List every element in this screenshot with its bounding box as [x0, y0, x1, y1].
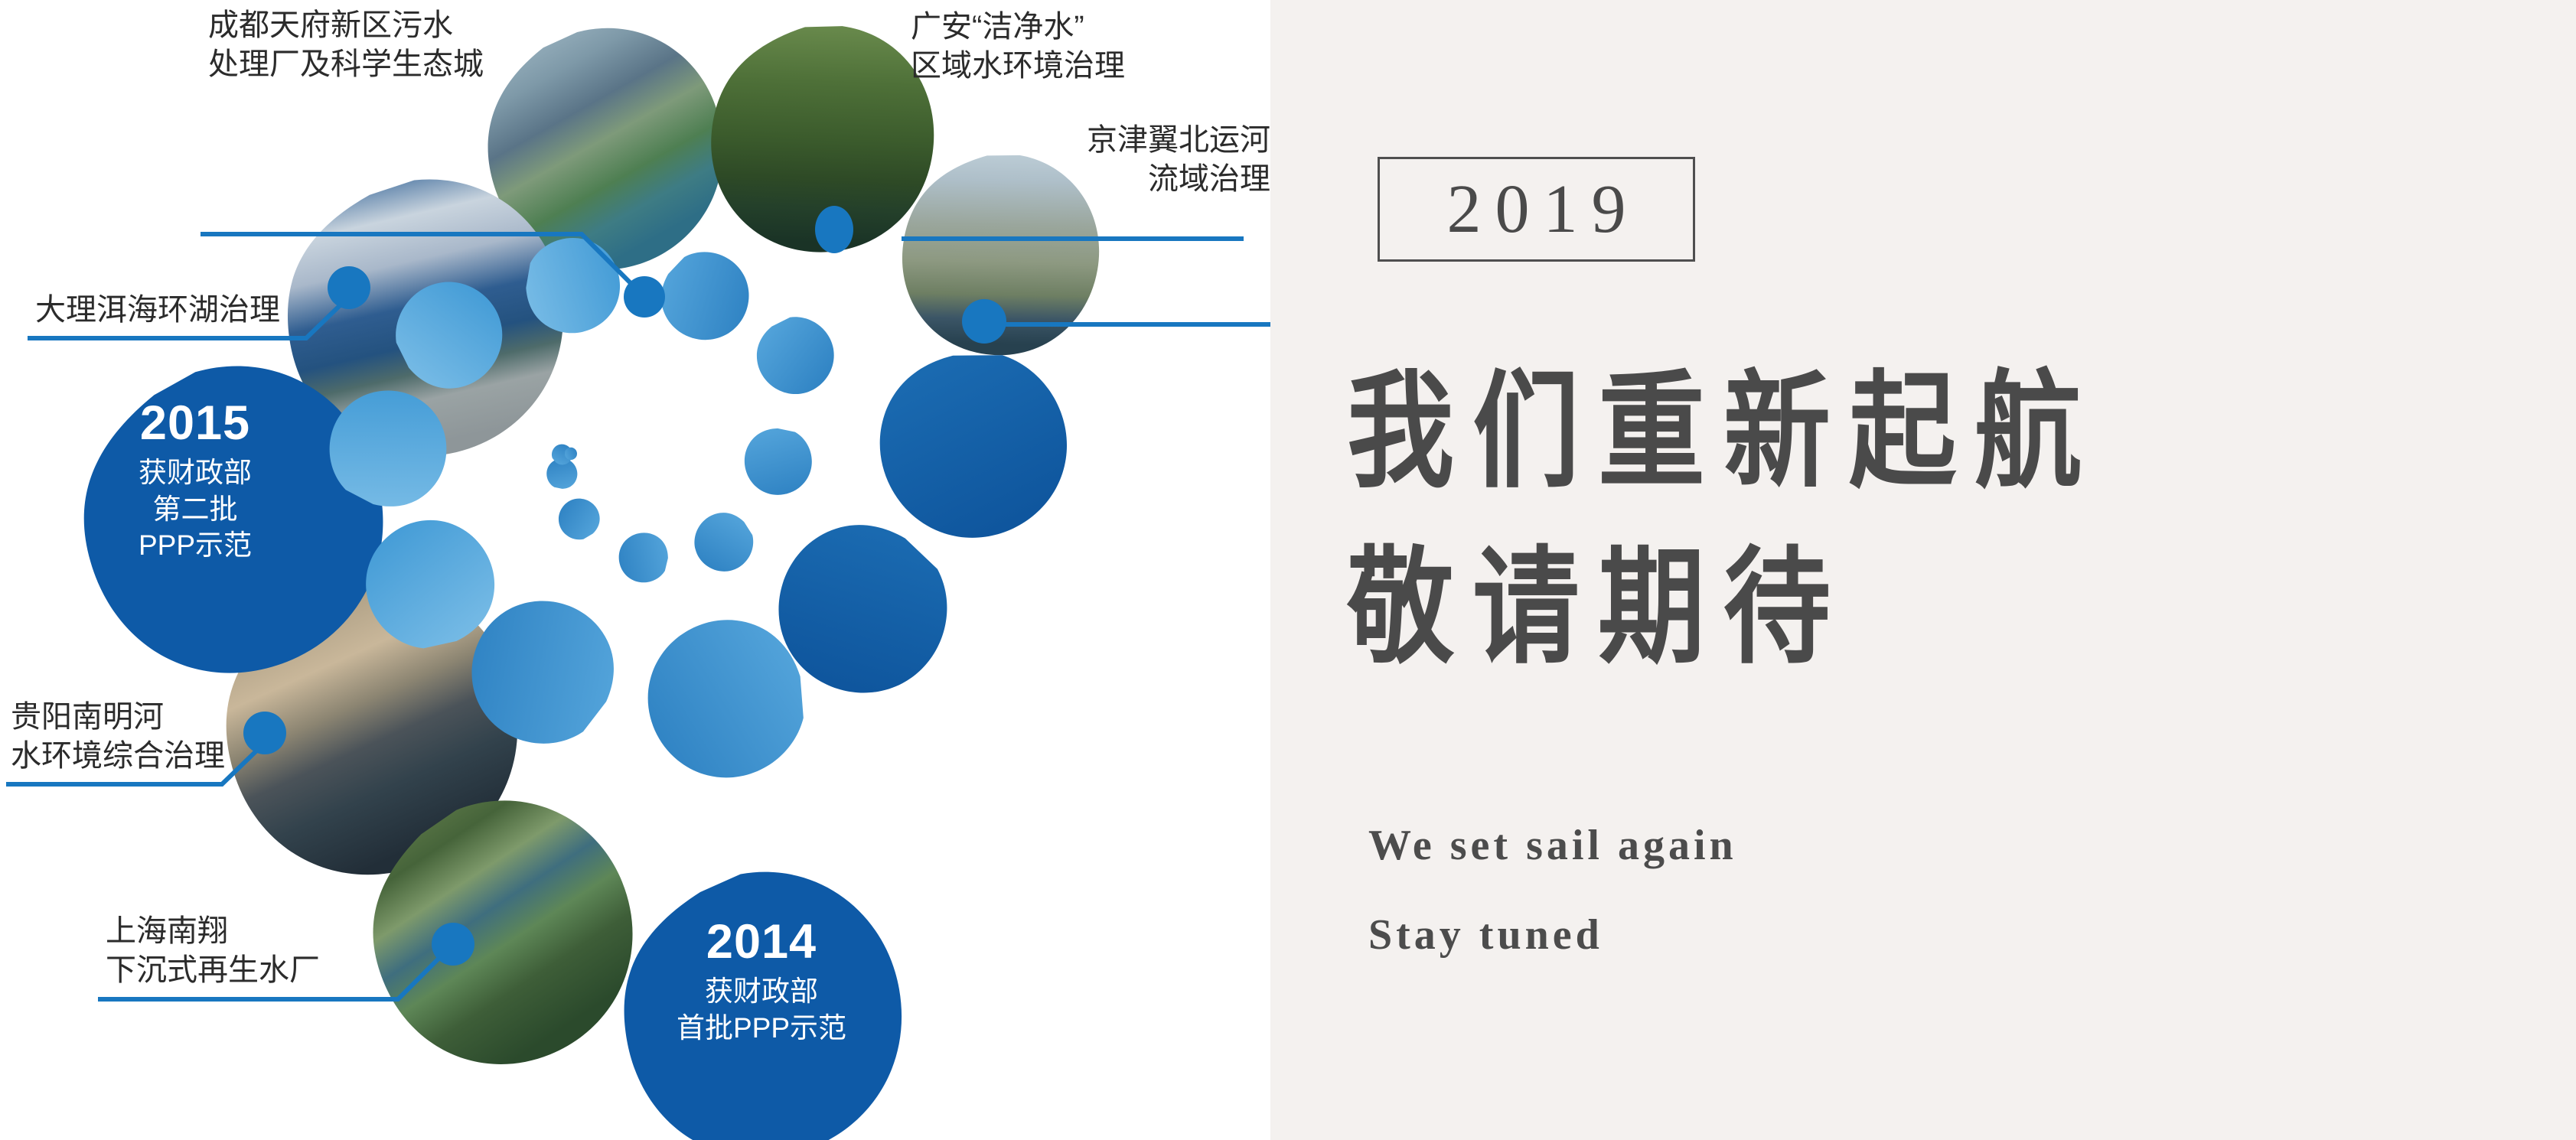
callout-shanghai: 上海南翔 下沉式再生水厂	[106, 912, 442, 990]
dot-chengdu	[624, 276, 665, 318]
year-label: 2019	[1433, 175, 1640, 244]
subtitle-line-2: Stay tuned	[1368, 910, 1603, 959]
headline-line-2: 敬请期待	[1347, 536, 1849, 681]
callout-guangan: 广安“洁净水” 区域水环境治理	[911, 8, 1247, 86]
water-spiral-graphic: 成都天府新区污水 处理厂及科学生态城 广安“洁净水” 区域水环境治理 京津翼北运…	[0, 0, 1270, 1140]
dot-guangan	[815, 206, 853, 253]
spiral-inner-petals	[541, 415, 824, 592]
callout-chengdu: 成都天府新区污水 处理厂及科学生态城	[208, 6, 530, 84]
milestone-teardrop-2014	[602, 851, 924, 1140]
callout-dali: 大理洱海环湖治理	[35, 291, 357, 330]
dot-jingjinji	[962, 299, 1006, 344]
callout-guiyang: 贵阳南明河 水环境综合治理	[11, 698, 347, 776]
slide-root: 成都天府新区污水 处理厂及科学生态城 广安“洁净水” 区域水环境治理 京津翼北运…	[0, 0, 2576, 1140]
year-box: 2019	[1378, 157, 1695, 262]
subtitle-line-1: We set sail again	[1368, 821, 1737, 870]
headline-line-1: 我们重新起航	[1347, 360, 2100, 505]
callout-jingjinji: 京津翼北运河 流域治理	[941, 121, 1270, 199]
